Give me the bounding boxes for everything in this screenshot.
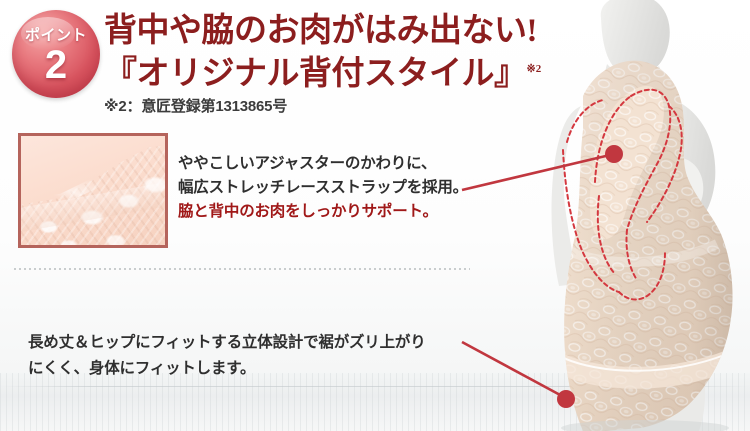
bottom-copy-line-2: にくく、身体にフィットします。 (28, 356, 428, 382)
headline-footnote-marker: ※2 (527, 63, 542, 75)
point-badge: ポイント 2 (12, 10, 100, 98)
middle-copy-line-1: ややこしいアジャスターのかわりに、 (178, 152, 478, 176)
headline-line-2-text: 『オリジナル背付スタイル』 (104, 56, 527, 92)
point-badge-label: ポイント (25, 28, 87, 43)
section-divider (14, 268, 470, 270)
headline-note: ※2：意匠登録第1313865号 (104, 97, 534, 117)
bottom-copy-line-1: 長め丈＆ヒップにフィットする立体設計で裾がズリ上がり (28, 330, 428, 356)
headline-line-2: 『オリジナル背付スタイル』※2 (104, 50, 534, 93)
middle-copy-line-2: 幅広ストレッチレースストラップを採用。 (178, 176, 478, 200)
lace-detail-photo (18, 133, 168, 248)
headline-line-1: 背中や脇のお肉がはみ出ない! (104, 12, 534, 50)
headline-block: 背中や脇のお肉がはみ出ない! 『オリジナル背付スタイル』※2 ※2：意匠登録第1… (104, 12, 534, 117)
bottom-copy-block: 長め丈＆ヒップにフィットする立体設計で裾がズリ上がり にくく、身体にフィットしま… (28, 330, 428, 382)
middle-copy-block: ややこしいアジャスターのかわりに、 幅広ストレッチレースストラップを採用。 脇と… (178, 152, 478, 224)
advertisement-panel: ポイント 2 背中や脇のお肉がはみ出ない! 『オリジナル背付スタイル』※2 ※2… (0, 0, 750, 431)
point-badge-number: 2 (45, 45, 67, 85)
middle-copy-line-3: 脇と背中のお肉をしっかりサポート。 (178, 200, 478, 224)
